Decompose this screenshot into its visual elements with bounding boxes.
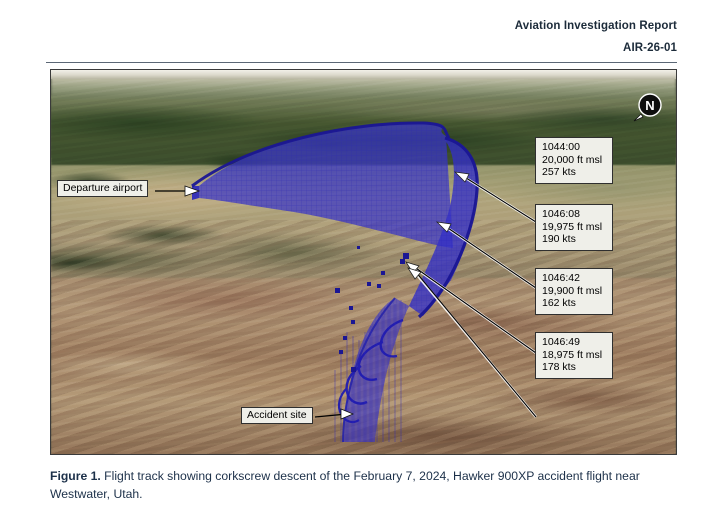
flight-track-overlay — [51, 70, 677, 455]
callout-3-time: 1046:42 — [542, 272, 606, 285]
callout-1-speed: 257 kts — [542, 166, 606, 179]
page-header: Aviation Investigation Report AIR-26-01 — [0, 0, 723, 60]
callout-3-altitude: 19,900 ft msl — [542, 285, 606, 298]
compass-north-label: N — [645, 98, 654, 113]
callout-1-time: 1044:00 — [542, 141, 606, 154]
figure-caption: Figure 1. Flight track showing corkscrew… — [50, 468, 670, 503]
callout-box-3: 1046:42 19,900 ft msl 162 kts — [535, 268, 613, 315]
report-title: Aviation Investigation Report — [515, 20, 677, 32]
figure-caption-text: Flight track showing corkscrew descent o… — [50, 469, 640, 501]
track-curtain-cruise — [192, 123, 453, 248]
callout-2-altitude: 19,975 ft msl — [542, 221, 606, 234]
figure-image: N Departure airport Accident site 1044:0… — [50, 69, 677, 455]
label-accident-site: Accident site — [241, 407, 313, 424]
label-departure-airport: Departure airport — [57, 180, 148, 197]
north-compass-icon: N — [631, 90, 665, 124]
report-id: AIR-26-01 — [623, 42, 677, 54]
callout-box-1: 1044:00 20,000 ft msl 257 kts — [535, 137, 613, 184]
callout-1-altitude: 20,000 ft msl — [542, 154, 606, 167]
callout-3-speed: 162 kts — [542, 297, 606, 310]
callout-4-time: 1046:49 — [542, 336, 606, 349]
callout-2-time: 1046:08 — [542, 208, 606, 221]
callout-4-altitude: 18,975 ft msl — [542, 349, 606, 362]
callout-box-4: 1046:49 18,975 ft msl 178 kts — [535, 332, 613, 379]
header-divider — [46, 62, 677, 63]
callout-4-speed: 178 kts — [542, 361, 606, 374]
callout-2-speed: 190 kts — [542, 233, 606, 246]
callout-box-2: 1046:08 19,975 ft msl 190 kts — [535, 204, 613, 251]
figure-caption-label: Figure 1. — [50, 469, 101, 483]
